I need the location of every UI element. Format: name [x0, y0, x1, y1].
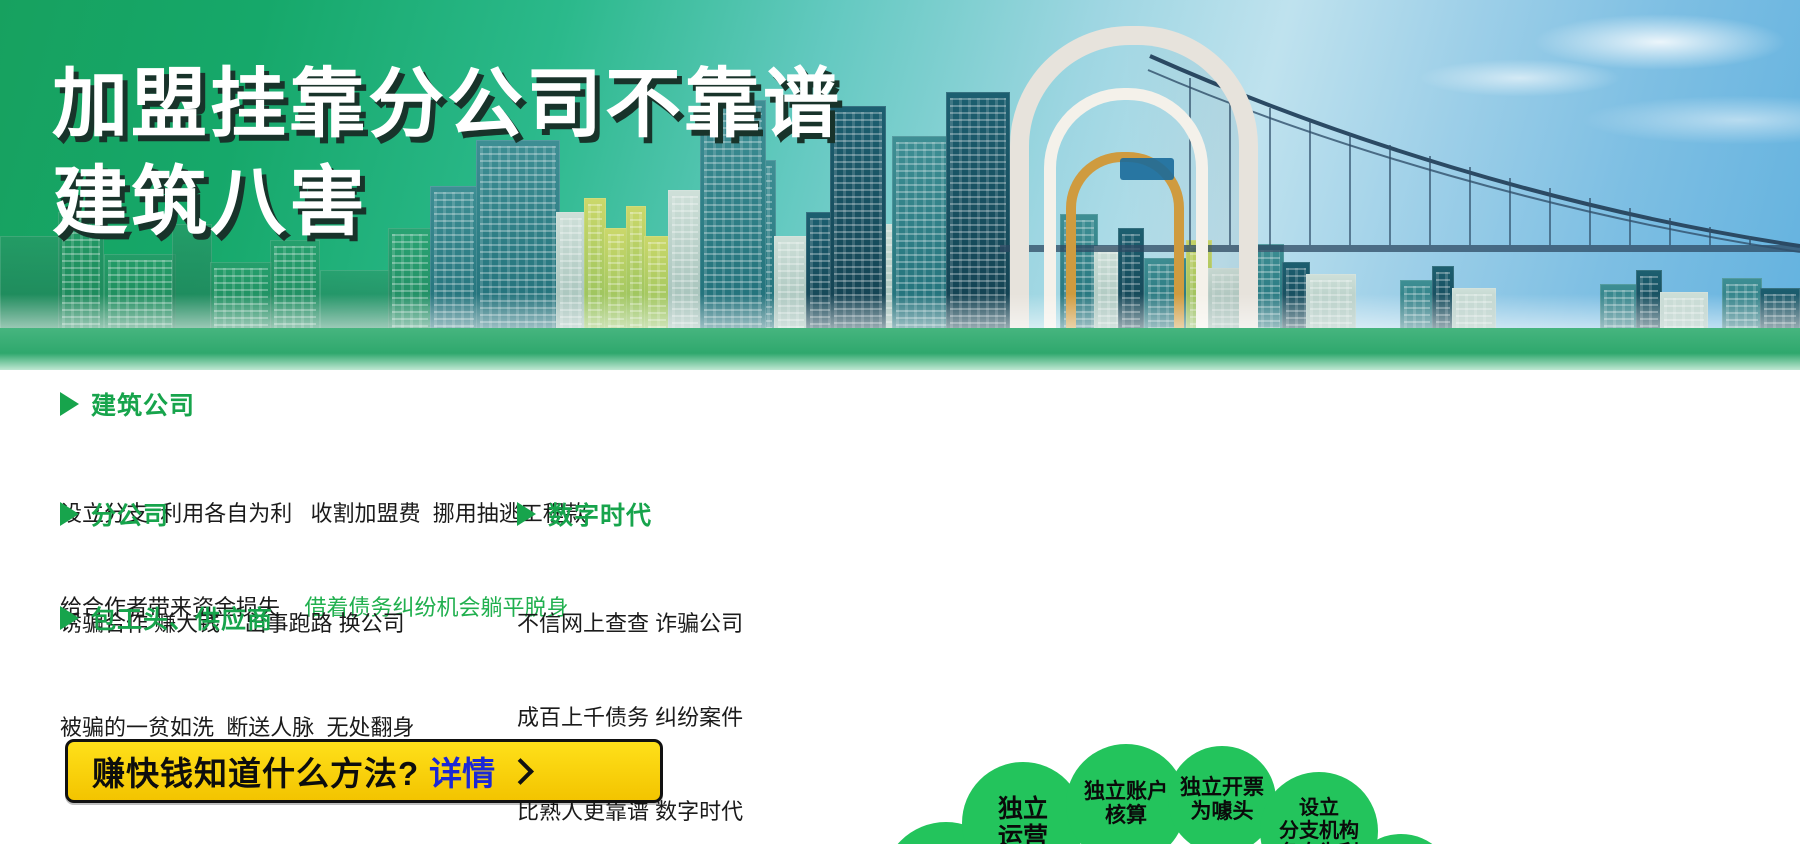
triangle-bullet-icon — [60, 606, 79, 630]
eight-harms-diagram: 建筑八害 借着使用 总公司资质 业绩和荣誉 独立承揽 签订合同 独立 运营 独立… — [820, 742, 1800, 844]
section-title-row: 分公司 — [60, 496, 530, 532]
ground-strip — [0, 328, 1800, 370]
liede-bridge-icon — [1000, 40, 1800, 330]
bubble-label: 独立开票 为噱头 — [1180, 776, 1264, 823]
hero-banner: 加盟挂靠分公司不靠谱 建筑八害 — [0, 0, 1800, 370]
section-title-row: 建筑公司 — [60, 386, 680, 422]
section-title-row: 包工头、供应商 — [60, 600, 530, 636]
body-line: 成百上千债务 纠纷案件 — [517, 702, 777, 733]
triangle-bullet-icon — [60, 392, 79, 416]
headline-line-2: 建筑八害 — [52, 158, 842, 248]
section-title: 分公司 — [91, 496, 169, 532]
details-cta-button[interactable]: 赚快钱知道什么方法? 详情 — [65, 739, 663, 803]
bubble-label: 独立账户 核算 — [1084, 780, 1168, 827]
bubble-label: 设立 分支机构 各自为利 — [1279, 797, 1359, 844]
triangle-bullet-icon — [60, 502, 79, 526]
poster-canvas: 加盟挂靠分公司不靠谱 建筑八害 建筑公司 设立分支 利用各自为利 收割加盟费 挪… — [0, 0, 1800, 844]
section-title: 数字时代 — [548, 496, 652, 532]
body-line: 不信网上查查 诈骗公司 — [517, 608, 777, 639]
bubble-label: 独立 运营 — [998, 795, 1048, 844]
chevron-right-icon — [507, 758, 534, 785]
section-title: 建筑公司 — [91, 386, 195, 422]
cta-link-label[interactable]: 详情 — [429, 747, 495, 795]
bridge-sign-plate — [1120, 158, 1174, 180]
headline-line-1: 加盟挂靠分公司不靠谱 — [52, 60, 842, 150]
content-area: 建筑公司 设立分支 利用各自为利 收割加盟费 挪用抽逃工程款 给合作者带来资金损… — [0, 370, 1800, 844]
hero-headline: 加盟挂靠分公司不靠谱 建筑八害 — [52, 60, 842, 247]
triangle-bullet-icon — [517, 502, 536, 526]
section-title-row: 数字时代 — [517, 496, 777, 532]
section-title: 包工头、供应商 — [91, 600, 273, 636]
cta-label: 赚快钱知道什么方法? — [92, 747, 419, 795]
